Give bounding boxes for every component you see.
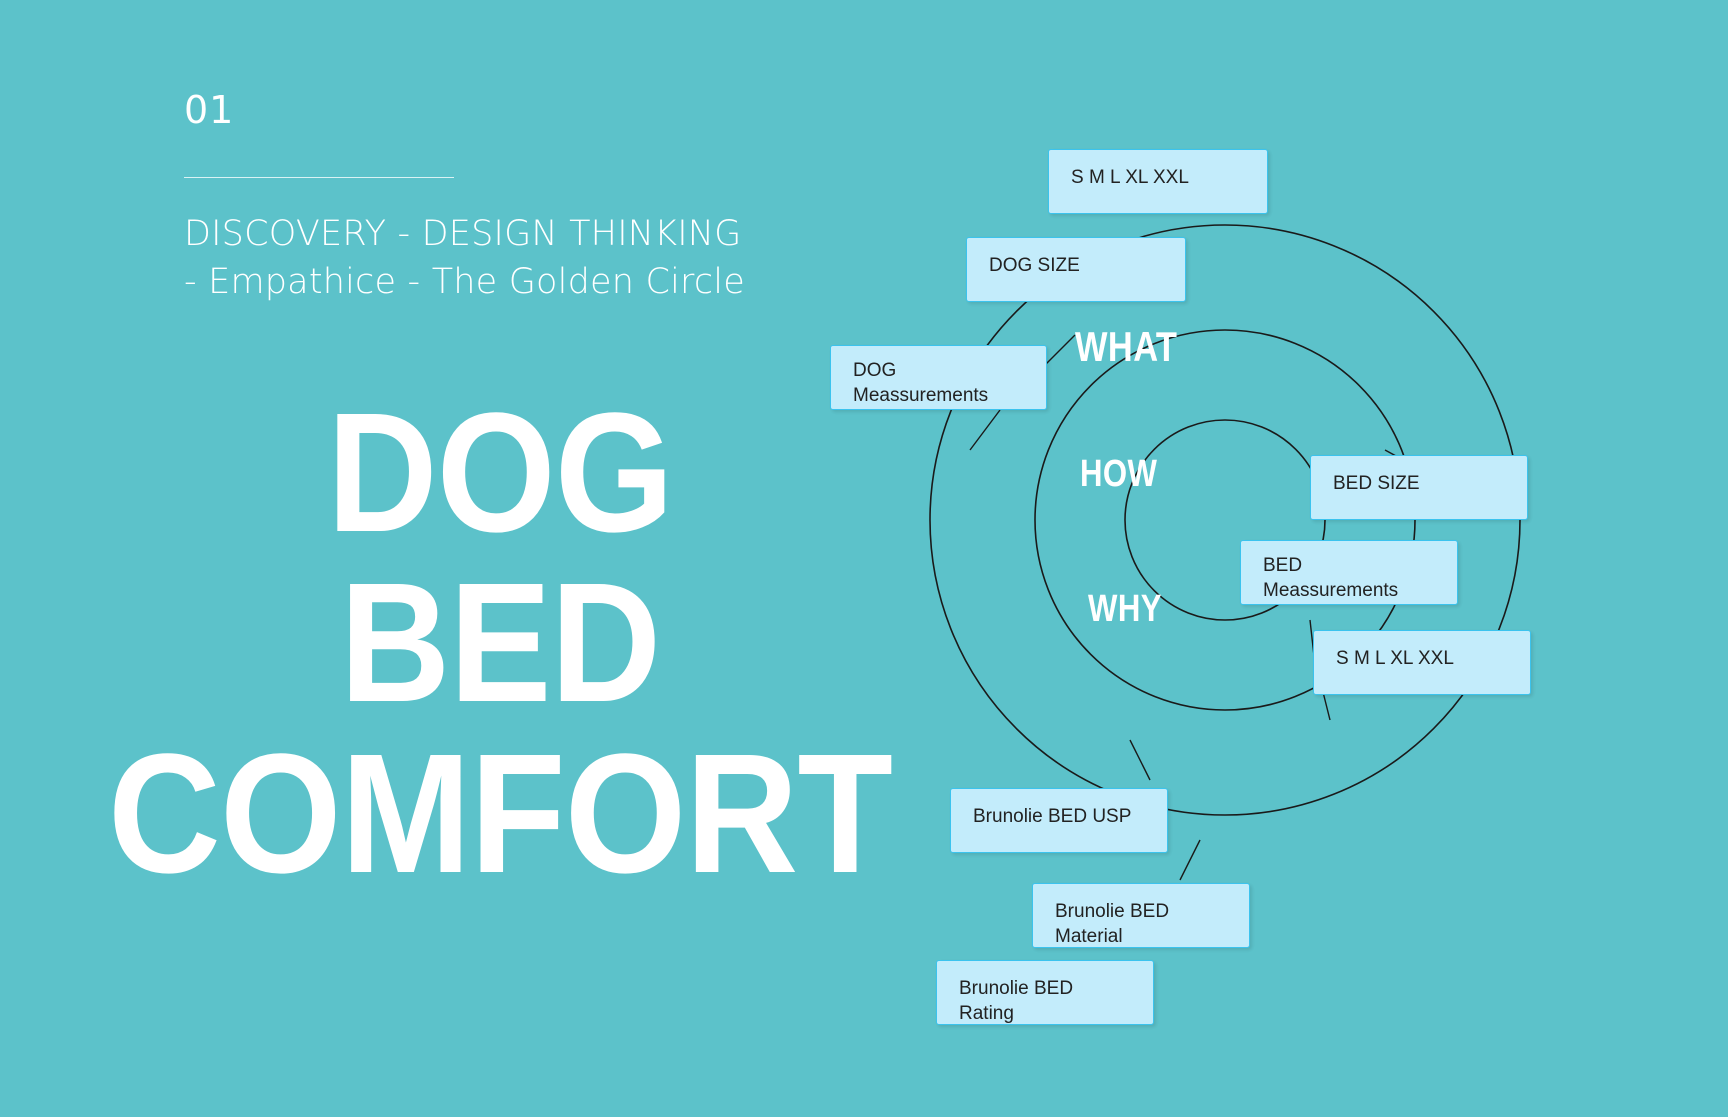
slide-subtitle: DISCOVERY - DESIGN THINKING - Empathice … — [184, 210, 824, 306]
title-line-1: DOG — [50, 395, 950, 551]
divider-rule — [184, 177, 454, 178]
note-dog-measurements[interactable]: DOG Meassurements — [830, 345, 1047, 410]
left-content-column: 01 DISCOVERY - DESIGN THINKING - Empathi… — [0, 0, 1000, 1117]
note-bed-size[interactable]: BED SIZE — [1310, 455, 1528, 520]
page-title: DOG BED COMFORT — [0, 395, 1000, 892]
note-brunolie-bed-rating[interactable]: Brunolie BED Rating — [936, 960, 1154, 1025]
note-dog-sizes[interactable]: S M L XL XXL — [1048, 149, 1268, 214]
title-line-3: COMFORT — [40, 736, 960, 892]
outer-ring-what-circle — [930, 225, 1520, 815]
note-brunolie-bed-usp[interactable]: Brunolie BED USP — [950, 788, 1168, 853]
subtitle-line-2: - Empathice - The Golden Circle — [184, 258, 824, 306]
note-bed-measurements[interactable]: BED Meassurements — [1240, 540, 1458, 605]
step-number: 01 — [184, 91, 234, 129]
note-dog-size[interactable]: DOG SIZE — [966, 237, 1186, 302]
note-bed-sizes[interactable]: S M L XL XXL — [1313, 630, 1531, 695]
ring-label-why: WHY — [1088, 588, 1162, 631]
golden-circle-diagram: WHAT HOW WHY S M L XL XXL DOG SIZE DOG M… — [880, 120, 1728, 1040]
subtitle-line-1: DISCOVERY - DESIGN THINKING — [184, 214, 741, 254]
ring-label-what: WHAT — [1075, 323, 1177, 371]
ring-label-how: HOW — [1080, 453, 1157, 496]
title-line-2: BED — [50, 565, 950, 721]
note-brunolie-bed-material[interactable]: Brunolie BED Material — [1032, 883, 1250, 948]
slide-canvas: 01 DISCOVERY - DESIGN THINKING - Empathi… — [0, 0, 1728, 1117]
